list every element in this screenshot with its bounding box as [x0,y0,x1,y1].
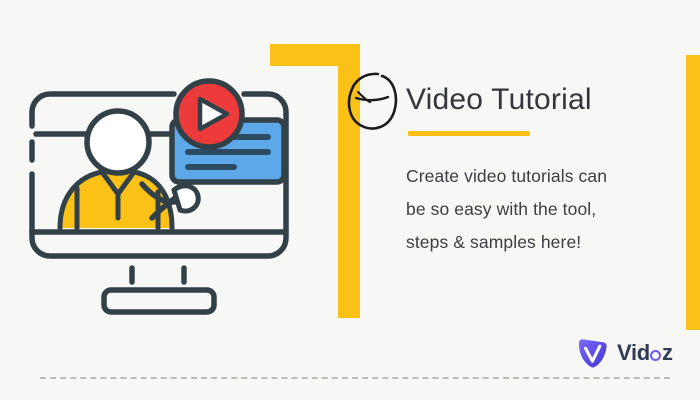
logo-word-before: Vid [617,340,650,365]
page-title: Video Tutorial [406,80,668,120]
title-row: Video Tutorial [406,80,668,126]
logo-wordmark: Vidz [617,342,673,364]
vidnoz-logo[interactable]: Vidz [576,336,673,370]
body-line-2: be so easy with the tool, [406,193,668,226]
video-tutorial-illustration [22,42,322,327]
vidnoz-shield-v-icon [576,336,610,370]
title-underline [408,131,530,136]
body-copy: Create video tutorials can be so easy wi… [406,160,668,259]
body-line-1: Create video tutorials can [406,160,668,193]
logo-word-after: z [662,340,673,365]
letter-o-ring-icon [650,350,661,361]
text-column: Video Tutorial Create video tutorials ca… [406,80,668,259]
body-line-3: steps & samples here! [406,226,668,259]
bottom-dashed-divider [40,377,670,379]
video-tutorial-banner: Video Tutorial Create video tutorials ca… [0,0,700,400]
hand-drawn-circle-icon [344,70,406,132]
yellow-edge-strip [686,55,700,330]
